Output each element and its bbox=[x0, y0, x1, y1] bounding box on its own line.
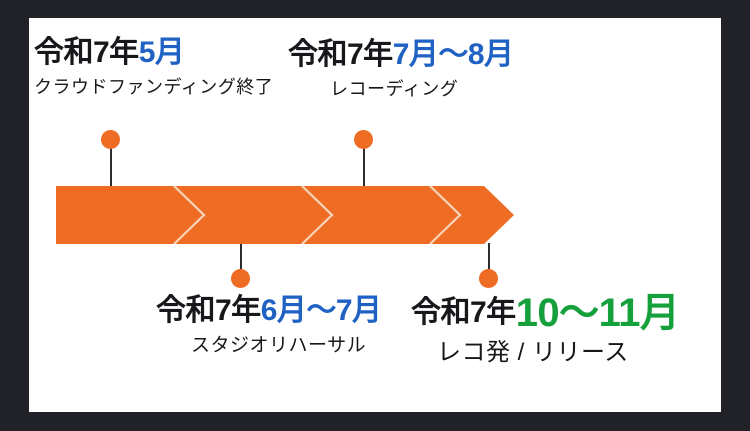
milestone-4-heading: 令和7年10〜11月 bbox=[411, 293, 679, 334]
screenshot-frame: 令和7年5月 クラウドファンディング終了 令和7年7月〜8月 レコーディング 令… bbox=[0, 0, 750, 431]
infographic-canvas: 令和7年5月 クラウドファンディング終了 令和7年7月〜8月 レコーディング 令… bbox=[29, 18, 721, 412]
milestone-1-description: クラウドファンディング終了 bbox=[34, 78, 273, 97]
milestone-4-era: 令和7年 bbox=[411, 296, 516, 329]
milestone-3: 令和7年6月〜7月 スタジオリハーサル bbox=[156, 296, 382, 356]
milestone-2-heading: 令和7年7月〜8月 bbox=[288, 40, 514, 71]
milestone-3-era: 令和7年 bbox=[156, 294, 261, 327]
milestone-3-heading: 令和7年6月〜7月 bbox=[156, 296, 382, 327]
milestone-3-description: スタジオリハーサル bbox=[191, 336, 382, 356]
milestone-1: 令和7年5月 クラウドファンディング終了 bbox=[34, 38, 273, 96]
milestone-2-description: レコーディング bbox=[330, 80, 514, 99]
milestone-dot-4 bbox=[479, 269, 498, 288]
milestone-dot-3 bbox=[231, 269, 250, 288]
milestone-4-description: レコ発 / リリース bbox=[437, 340, 679, 365]
milestone-dot-2 bbox=[354, 130, 373, 149]
milestone-3-period: 6月〜7月 bbox=[261, 294, 382, 327]
milestone-1-era: 令和7年 bbox=[34, 36, 139, 69]
milestone-2-era: 令和7年 bbox=[288, 38, 393, 71]
arrow-body bbox=[56, 186, 514, 244]
milestone-1-heading: 令和7年5月 bbox=[34, 38, 273, 69]
milestone-1-period: 5月 bbox=[139, 36, 185, 69]
milestone-2-period: 7月〜8月 bbox=[393, 38, 514, 71]
milestone-4-period: 10〜11月 bbox=[516, 291, 680, 335]
milestone-4: 令和7年10〜11月 レコ発 / リリース bbox=[411, 293, 679, 365]
milestone-dot-1 bbox=[101, 130, 120, 149]
timeline-arrow-shape bbox=[56, 186, 514, 244]
milestone-2: 令和7年7月〜8月 レコーディング bbox=[288, 40, 514, 98]
timeline-arrow-bar bbox=[56, 186, 514, 244]
